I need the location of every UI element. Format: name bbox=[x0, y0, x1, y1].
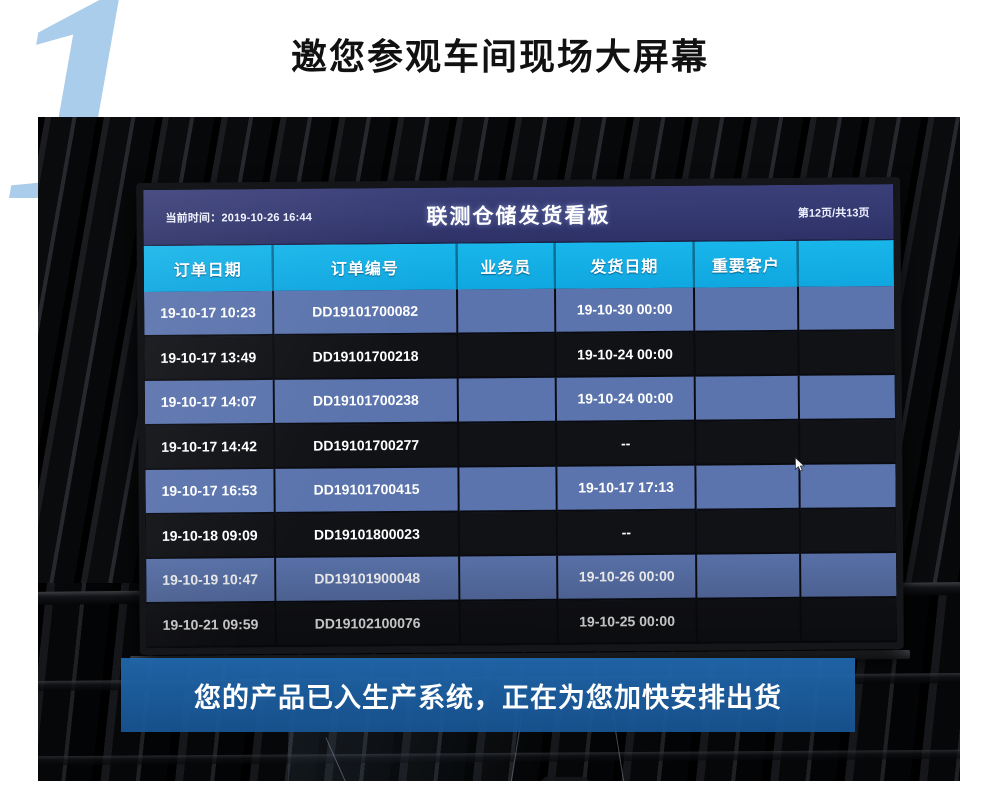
column-header-extra bbox=[798, 240, 894, 287]
cell-ship-date: 19-10-25 00:00 bbox=[558, 599, 698, 645]
page-title: 邀您参观车间现场大屏幕 bbox=[0, 28, 1000, 80]
table-row[interactable]: 19-10-18 09:09DD19101800023-- bbox=[146, 509, 896, 559]
cell-key-customer bbox=[696, 376, 800, 421]
dashboard-screen: 当前时间：2019-10-26 16:44 联测仓储发货看板 第12页/共13页… bbox=[143, 184, 897, 648]
caption-text: 您的产品已入生产系统，正在为您加快安排出货 bbox=[194, 676, 782, 715]
cell-key-customer bbox=[697, 509, 801, 554]
cell-order-no: DD19102100076 bbox=[276, 601, 461, 647]
cell-order-date: 19-10-17 13:49 bbox=[144, 335, 274, 381]
column-header-salesman: 业务员 bbox=[458, 243, 556, 290]
cell-salesman bbox=[460, 467, 558, 512]
cell-salesman bbox=[458, 289, 556, 334]
cell-order-no: DD19101700277 bbox=[275, 423, 460, 469]
table-body: 19-10-17 10:23DD1910170008219-10-30 00:0… bbox=[144, 286, 897, 648]
table-row[interactable]: 19-10-21 09:59DD1910210007619-10-25 00:0… bbox=[146, 598, 896, 648]
cell-ship-date: -- bbox=[557, 421, 697, 467]
column-header-ship-date: 发货日期 bbox=[555, 242, 695, 289]
cell-order-date: 19-10-17 10:23 bbox=[144, 291, 274, 337]
cell-extra bbox=[799, 331, 895, 376]
cell-order-no: DD19101700238 bbox=[274, 378, 459, 424]
cell-salesman bbox=[460, 556, 558, 601]
cell-salesman bbox=[461, 600, 559, 645]
cell-order-date: 19-10-17 14:42 bbox=[145, 424, 275, 470]
cell-ship-date: -- bbox=[557, 510, 697, 556]
cell-ship-date: 19-10-30 00:00 bbox=[556, 288, 696, 334]
table-row[interactable]: 19-10-17 14:42DD19101700277-- bbox=[145, 420, 895, 470]
cell-salesman bbox=[459, 333, 557, 378]
wall-mounted-tv: 当前时间：2019-10-26 16:44 联测仓储发货看板 第12页/共13页… bbox=[136, 177, 904, 655]
cell-ship-date: 19-10-24 00:00 bbox=[556, 332, 696, 378]
cell-extra bbox=[800, 464, 896, 509]
cell-key-customer bbox=[696, 331, 800, 376]
dashboard-header: 当前时间：2019-10-26 16:44 联测仓储发货看板 第12页/共13页 bbox=[143, 184, 893, 246]
page-root: 1 邀您参观车间现场大屏幕 当前时间：2019-10-26 16:44 联测仓储… bbox=[0, 0, 1000, 798]
cell-order-no: DD19101700415 bbox=[275, 467, 460, 513]
cell-key-customer bbox=[697, 465, 801, 510]
column-header-order-date: 订单日期 bbox=[144, 245, 274, 292]
cell-extra bbox=[801, 598, 897, 643]
table-header-row: 订单日期 订单编号 业务员 发货日期 重要客户 bbox=[144, 240, 894, 292]
page-indicator: 第12页/共13页 bbox=[798, 204, 870, 221]
table-row[interactable]: 19-10-17 16:53DD1910170041519-10-17 17:1… bbox=[145, 464, 895, 514]
cell-extra bbox=[801, 553, 897, 598]
column-header-order-no: 订单编号 bbox=[273, 243, 458, 290]
table-row[interactable]: 19-10-17 13:49DD1910170021819-10-24 00:0… bbox=[144, 331, 894, 381]
cell-key-customer bbox=[698, 598, 802, 643]
cell-extra bbox=[799, 286, 895, 331]
cell-key-customer bbox=[696, 420, 800, 465]
cell-order-no: DD19101800023 bbox=[275, 512, 460, 558]
cell-ship-date: 19-10-17 17:13 bbox=[557, 466, 697, 512]
cell-salesman bbox=[459, 422, 557, 467]
cell-extra bbox=[799, 375, 895, 420]
cell-order-no: DD19101700218 bbox=[274, 334, 459, 380]
cell-key-customer bbox=[697, 554, 801, 599]
cell-ship-date: 19-10-26 00:00 bbox=[558, 555, 698, 601]
cell-order-date: 19-10-17 14:07 bbox=[145, 380, 275, 426]
cell-salesman bbox=[459, 378, 557, 423]
caption-banner: 您的产品已入生产系统，正在为您加快安排出货 bbox=[121, 658, 855, 732]
cell-order-no: DD19101900048 bbox=[276, 556, 461, 602]
cell-extra bbox=[800, 509, 896, 554]
cell-extra bbox=[800, 420, 896, 465]
cell-order-no: DD19101700082 bbox=[274, 289, 459, 335]
cell-order-date: 19-10-19 10:47 bbox=[146, 558, 276, 604]
table-row[interactable]: 19-10-17 10:23DD1910170008219-10-30 00:0… bbox=[144, 286, 894, 336]
table-row[interactable]: 19-10-19 10:47DD1910190004819-10-26 00:0… bbox=[146, 553, 896, 603]
cell-order-date: 19-10-18 09:09 bbox=[146, 513, 276, 559]
shipment-table: 订单日期 订单编号 业务员 发货日期 重要客户 19-10-17 10:23DD… bbox=[144, 240, 897, 648]
cell-salesman bbox=[460, 511, 558, 556]
table-row[interactable]: 19-10-17 14:07DD1910170023819-10-24 00:0… bbox=[145, 375, 895, 425]
cell-order-date: 19-10-17 16:53 bbox=[145, 469, 275, 515]
cell-ship-date: 19-10-24 00:00 bbox=[556, 377, 696, 423]
column-header-key-customer: 重要客户 bbox=[695, 241, 799, 288]
current-time-label: 当前时间：2019-10-26 16:44 bbox=[165, 208, 312, 225]
cell-key-customer bbox=[695, 287, 799, 332]
cell-order-date: 19-10-21 09:59 bbox=[146, 602, 276, 648]
